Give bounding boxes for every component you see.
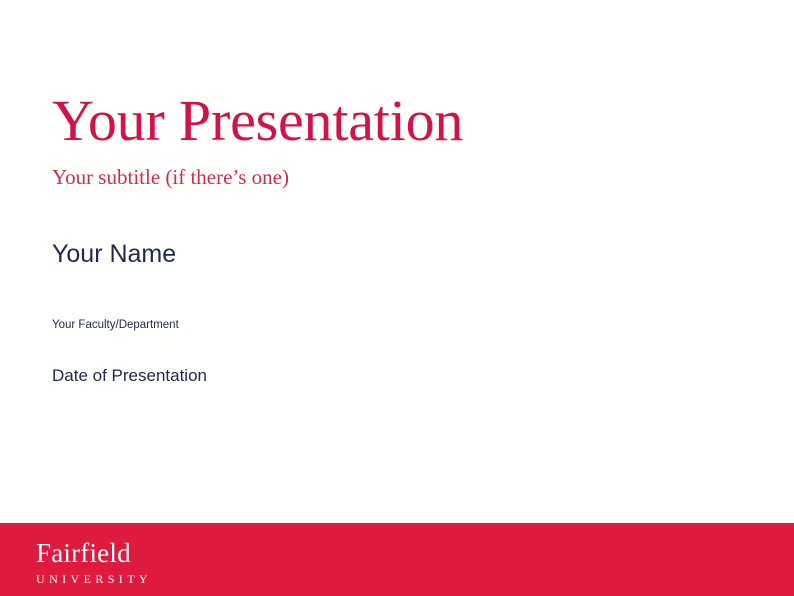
presentation-title-slide: Your Presentation Your subtitle (if ther… xyxy=(0,0,794,596)
logo-wordmark: Fairfield xyxy=(36,540,152,567)
presenter-name: Your Name xyxy=(52,241,752,269)
page-title: Your Presentation xyxy=(52,92,752,150)
footer-bar: Fairfield UNIVERSITY xyxy=(0,523,794,596)
logo-subtext: UNIVERSITY xyxy=(36,567,152,585)
title-block: Your Presentation Your subtitle (if ther… xyxy=(52,92,752,189)
fairfield-university-logo: Fairfield UNIVERSITY xyxy=(36,540,152,585)
presentation-date: Date of Presentation xyxy=(52,332,752,386)
page-subtitle: Your subtitle (if there’s one) xyxy=(52,150,752,189)
presenter-affiliation: Your Faculty/Department xyxy=(52,269,752,333)
presenter-block: Your Name Your Faculty/Department Date o… xyxy=(52,241,752,387)
